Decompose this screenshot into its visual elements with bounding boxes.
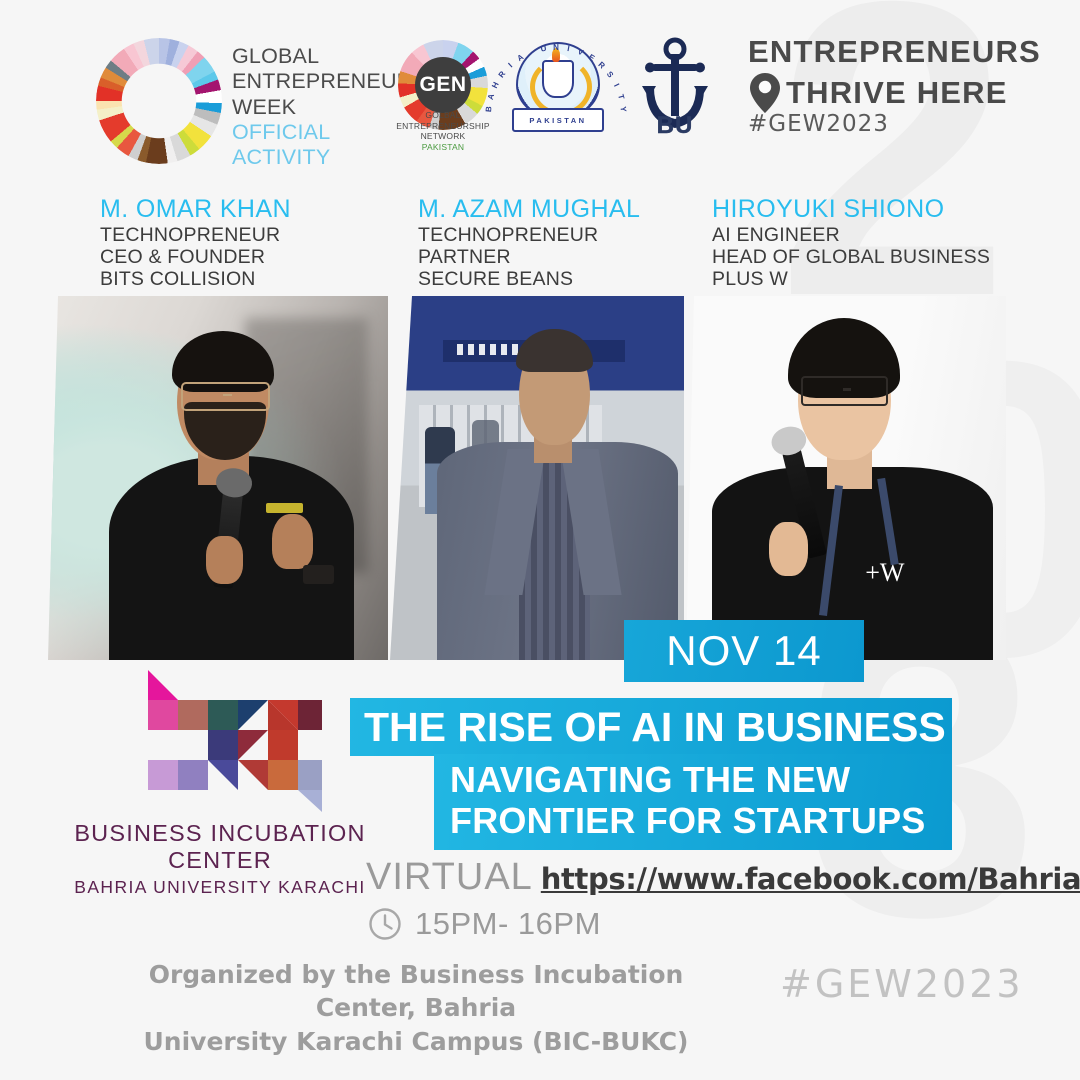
gen-subtitle: GOLBAL ENTREPRENEURSHIP NETWORK PAKISTAN <box>378 110 508 153</box>
clock-icon <box>368 907 402 941</box>
speaker-info-3: HIROYUKI SHIONO AI ENGINEER HEAD OF GLOB… <box>712 196 990 290</box>
gen-sub-3: NETWORK <box>378 131 508 142</box>
location-pin-icon <box>748 71 782 115</box>
event-title-banner-primary: THE RISE OF AI IN BUSINESS <box>350 698 952 756</box>
crest-band-text: PAKISTAN <box>529 116 586 125</box>
speaker-info-1: M. OMAR KHAN TECHNOPRENEUR CEO & FOUNDER… <box>100 196 291 290</box>
event-link[interactable]: https://www.facebook.com/Bahria.Karachi.… <box>541 862 1080 896</box>
header-hashtag: #GEW2023 <box>748 111 1048 137</box>
speaker-photo-hiroyuki-shiono: +W <box>686 296 1006 660</box>
organizer-note: Organized by the Business Incubation Cen… <box>96 958 736 1058</box>
anchor-bu-label: BU <box>640 112 710 140</box>
event-title-line-1: THE RISE OF AI IN BUSINESS <box>364 704 946 751</box>
tagline-line-2: THRIVE HERE <box>786 75 1008 111</box>
bic-sub: BAHRIA UNIVERSITY KARACHI <box>36 877 404 898</box>
speaker-company: BITS COLLISION <box>100 268 291 290</box>
event-time: 15PM- 16PM <box>415 906 601 942</box>
event-date: NOV 14 <box>666 627 821 675</box>
speaker-photo-strip: +W <box>0 296 1080 660</box>
speaker-info-2: M. AZAM MUGHAL TECHNOPRENEUR PARTNER SEC… <box>418 196 640 290</box>
poster-header: GLOBAL ENTREPRENEURSHIP WEEK OFFICIAL AC… <box>0 0 1080 180</box>
speaker-company: PLUS W <box>712 268 990 290</box>
event-poster: 2 0 3 GLOBAL ENTREPRENEURSHIP WEEK OFFIC… <box>0 0 1080 1080</box>
speaker-role: AI ENGINEER <box>712 224 990 246</box>
speaker-role: TECHNOPRENEUR <box>418 224 640 246</box>
event-mode-label: VIRTUAL <box>366 856 533 899</box>
organizer-line-2: University Karachi Campus (BIC-BUKC) <box>96 1025 736 1058</box>
speaker-photo-omar-khan <box>48 296 388 660</box>
speaker-name: HIROYUKI SHIONO <box>712 196 990 224</box>
gew-ring-icon <box>96 38 222 164</box>
organizer-line-1: Organized by the Business Incubation Cen… <box>96 958 736 1025</box>
speaker-name: M. AZAM MUGHAL <box>418 196 640 224</box>
event-title-line-2: NAVIGATING THE NEW <box>450 760 938 801</box>
speaker-company: SECURE BEANS <box>418 268 640 290</box>
event-mode-row: VIRTUAL https://www.facebook.com/Bahria.… <box>366 856 1080 899</box>
event-time-row: 15PM- 16PM <box>368 906 601 942</box>
crest-arc-text: BAHRIA UNIVERSITY <box>514 44 598 114</box>
event-date-badge: NOV 14 <box>624 620 864 682</box>
bahria-university-crest-icon: BAHRIA UNIVERSITY PAKISTAN <box>510 38 602 136</box>
speaker-title: HEAD OF GLOBAL BUSINESS <box>712 246 990 268</box>
speaker-list: M. OMAR KHAN TECHNOPRENEUR CEO & FOUNDER… <box>0 196 1080 296</box>
speaker-title: CEO & FOUNDER <box>100 246 291 268</box>
bic-logo: BUSINESS INCUBATION CENTER BAHRIA UNIVER… <box>36 664 404 898</box>
speaker-title: PARTNER <box>418 246 640 268</box>
gen-core-label: GEN <box>415 57 471 113</box>
tagline-line-1: ENTREPRENEURS <box>748 36 1048 69</box>
gen-sub-4: PAKISTAN <box>378 142 508 153</box>
speaker-photo-azam-mughal <box>390 296 684 660</box>
gew-line-1: GLOBAL <box>232 44 412 69</box>
footer-hashtag: #GEW2023 <box>780 962 1024 1006</box>
gen-sub-2: ENTREPRENEURSHIP <box>378 121 508 132</box>
speaker-name: M. OMAR KHAN <box>100 196 291 224</box>
bic-mosaic-butterfly-icon <box>112 664 312 812</box>
bic-name: BUSINESS INCUBATION CENTER <box>36 820 404 874</box>
event-title-banner-secondary: NAVIGATING THE NEW FRONTIER FOR STARTUPS <box>434 754 952 850</box>
speaker-role: TECHNOPRENEUR <box>100 224 291 246</box>
event-title-line-3: FRONTIER FOR STARTUPS <box>450 801 938 842</box>
gew-line-2: ENTREPRENEURSHIP <box>232 69 412 94</box>
tagline-block: ENTREPRENEURS THRIVE HERE #GEW2023 <box>748 36 1048 137</box>
